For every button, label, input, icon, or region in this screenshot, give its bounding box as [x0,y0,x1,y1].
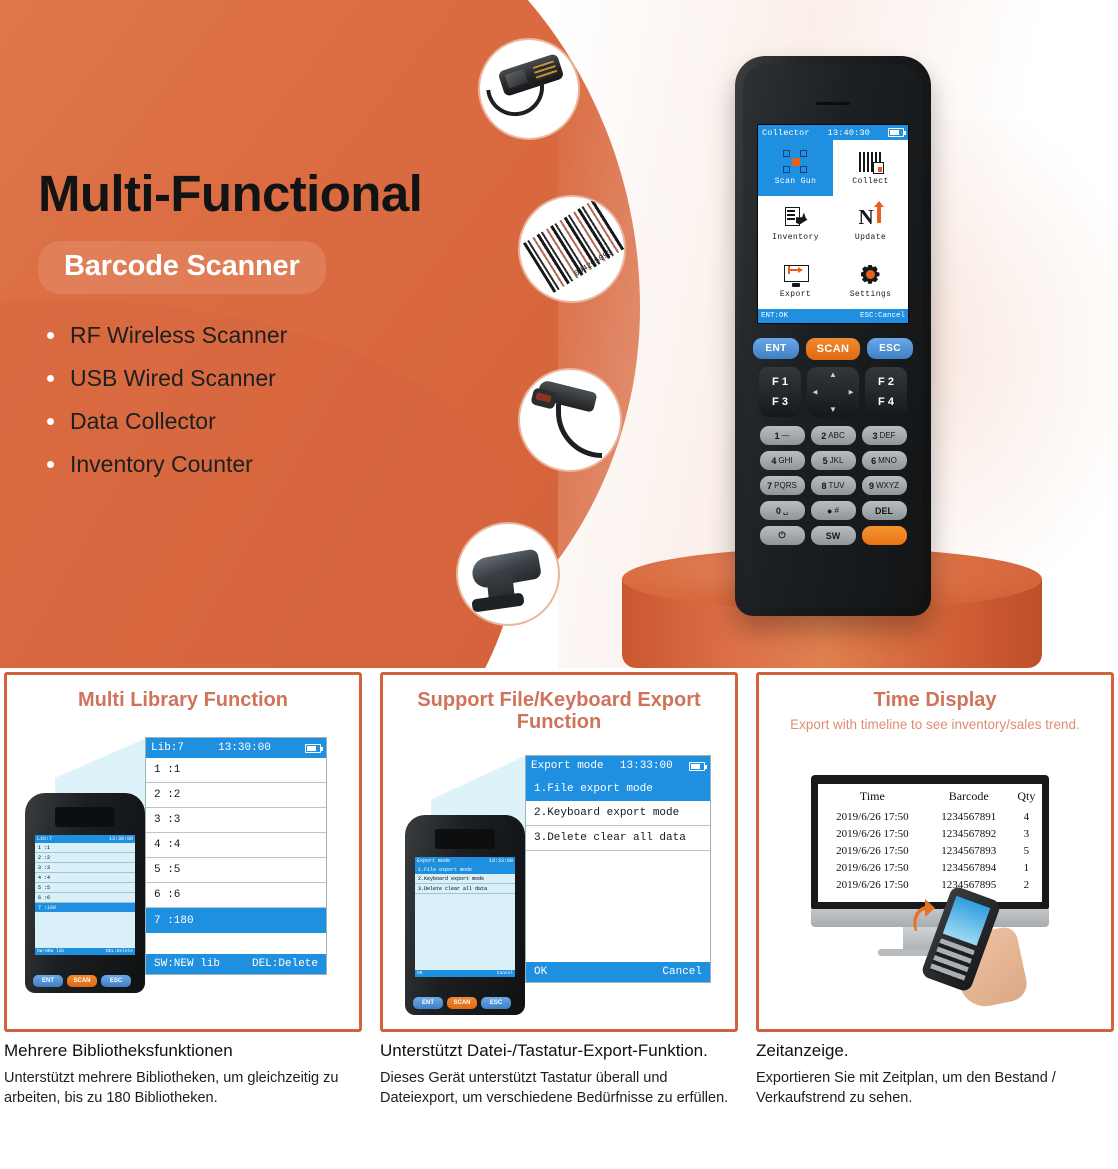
key-dot-hash[interactable]: ●# [811,501,856,520]
card-subtitle: Export with timeline to see inventory/sa… [759,717,1111,733]
enlarged-status-bar: Lib:7 13:30:00 [146,738,326,758]
menu-item-collect[interactable]: Collect [833,140,908,196]
barcode-icon [858,150,884,174]
table-row: 2019/6/26 17:50 1234567894 1 [818,859,1042,876]
mini-keypad: ENT SCAN ESC [33,975,131,987]
mini-status-bar: Export mode 13:33:00 [415,857,515,865]
mini-scan-key[interactable]: SCAN [67,975,97,987]
screen-title: Collector [762,128,810,138]
device-screen: Collector 13:40:30 Scan Gun Collect Inve… [757,124,909,324]
menu-item-update[interactable]: N Update [833,196,908,252]
page-title: Multi-Functional [38,168,558,219]
feature-list: RF Wireless Scanner USB Wired Scanner Da… [38,324,558,476]
mini-row: 4 :4 [35,873,135,883]
menu-label: Export [780,290,811,299]
cell-barcode: 1234567891 [927,808,1011,825]
orange-function-key[interactable] [862,526,907,545]
feature-item: USB Wired Scanner [38,367,558,390]
mini-esc-key[interactable]: ESC [101,975,131,987]
cell-barcode: 1234567894 [927,859,1011,876]
feature-item: RF Wireless Scanner [38,324,558,347]
mini-device-card1: Lib:7 13:30:00 1 :1 2 :2 3 :3 4 :4 5 :5 … [25,793,145,993]
enlarged-soft-keys: SW:NEW lib DEL:Delete [146,954,326,974]
mini-device-card2: Export mode 13:33:00 1.File export mode … [405,815,525,1015]
library-row[interactable]: 6 :6 [146,883,326,908]
caption-body: Exportieren Sie mit Zeitplan, um den Bes… [756,1068,1114,1108]
mini-esc-key[interactable]: ESC [481,997,511,1009]
screen-soft-key-bar: ENT:OK ESC:Cancel [758,309,908,323]
card-multi-library: Multi Library Function Lib:7 13:30:00 1 … [4,672,362,1032]
function-keys-left[interactable]: F 1 F 3 [759,367,801,417]
softkey-right: DEL:Delete [252,958,318,970]
screen-clock: 13:40:30 [828,128,870,138]
caption-body: Unterstützt mehrere Bibliotheken, um gle… [4,1068,362,1108]
qr-code-icon [783,150,809,174]
caption-export: Unterstützt Datei-/Tastatur-Export-Funkt… [380,1040,738,1169]
gear-icon [858,263,884,287]
hand-holding-device [935,891,1021,1011]
inset-corded-scanner [518,368,622,472]
scanner-screen [943,896,991,946]
cell-qty: 5 [1011,842,1042,859]
library-row[interactable]: 3 :3 [146,808,326,833]
library-row[interactable]: 1 :1 [146,758,326,783]
cell-barcode: 1234567893 [927,842,1011,859]
softkey-left: SW:NEW lib [154,958,220,970]
menu-label: Collect [852,177,888,186]
enlarged-soft-keys: OK Cancel [526,962,710,982]
mini-row-selected: 1.File export mode [415,865,515,874]
mini-soft-keys: OK Cancel [415,970,515,977]
f3-key[interactable]: F 3 [772,396,788,408]
keypad-row-1: 1— 2ABC 3DEF [749,426,917,445]
key-1[interactable]: 1— [760,426,805,445]
screen-status-bar: Collector 13:40:30 [758,125,908,140]
caption-heading: Unterstützt Datei-/Tastatur-Export-Funkt… [380,1040,738,1061]
key-del[interactable]: DEL [862,501,907,520]
key-6[interactable]: 6MNO [862,451,907,470]
caption-time-display: Zeitanzeige. Exportieren Sie mit Zeitpla… [756,1040,1114,1169]
card-export-function: Support File/Keyboard Export Function Ex… [380,672,738,1032]
device-notch [55,807,115,827]
monitor-screen: Time Barcode Qty 2019/6/26 17:50 1234567… [818,784,1042,902]
table-header-row: Time Barcode Qty [818,784,1042,808]
key-5[interactable]: 5JKL [811,451,856,470]
card2-enlarged-screen: Export mode 13:33:00 1.File export mode … [525,755,711,983]
caption-heading: Zeitanzeige. [756,1040,1114,1061]
dpad-down-icon[interactable]: ▼ [829,405,837,414]
feature-cards: Multi Library Function Lib:7 13:30:00 1 … [0,672,1118,1032]
cell-qty: 1 [1011,859,1042,876]
table-row: 2019/6/26 17:50 1234567892 3 [818,825,1042,842]
cell-qty: 4 [1011,808,1042,825]
power-key[interactable]: ⏻ [760,526,805,545]
scanner-keypad [929,938,974,982]
mini-row: 1 :1 [35,843,135,853]
function-keys-right[interactable]: F 2 F 4 [865,367,907,417]
inset-barcode-label: 094205093 [518,195,626,303]
mini-row: 3 :3 [35,863,135,873]
mini-scan-key[interactable]: SCAN [447,997,477,1009]
cell-barcode: 1234567892 [927,825,1011,842]
card1-enlarged-screen: Lib:7 13:30:00 1 :1 2 :2 3 :3 4 :4 5 :5 … [145,737,327,975]
menu-label: Update [855,233,886,242]
menu-item-inventory[interactable]: Inventory [758,196,833,252]
menu-label: Settings [850,290,892,299]
card-title: Multi Library Function [7,675,359,711]
main-device: Collector 13:40:30 Scan Gun Collect Inve… [735,56,931,616]
export-option[interactable]: 2.Keyboard export mode [526,801,710,826]
cell-qty: 3 [1011,825,1042,842]
keypad-row-5: ⏻ SW [749,526,917,545]
screen-menu-grid: Scan Gun Collect Inventory N Update Expo… [758,140,908,309]
key-2[interactable]: 2ABC [811,426,856,445]
hero-section: Multi-Functional Barcode Scanner RF Wire… [0,0,1118,668]
card-title: Time Display [759,675,1111,711]
softkey-right: ESC:Cancel [860,312,905,320]
inset-handheld-pda [478,38,580,140]
column-header-time: Time [818,784,927,808]
monitor-bezel: Time Barcode Qty 2019/6/26 17:50 1234567… [811,775,1049,909]
softkey-left: ENT:OK [761,312,788,320]
hero-subtitle-pill: Barcode Scanner [38,241,326,294]
direction-pad[interactable]: ▲ ▼ ◄ ► [807,367,859,417]
menu-label: Inventory [772,233,819,242]
caption-multi-library: Mehrere Bibliotheksfunktionen Unterstütz… [4,1040,362,1169]
menu-label: Scan Gun [775,177,817,186]
keypad-row-3: 7PQRS 8TUV 9WXYZ [749,476,917,495]
monitor-usb-icon [783,263,809,287]
cell-time: 2019/6/26 17:50 [818,825,927,842]
cell-time: 2019/6/26 17:50 [818,808,927,825]
export-option[interactable]: 3.Delete clear all data [526,826,710,851]
esc-key[interactable]: ESC [867,338,913,359]
battery-icon [689,762,705,771]
f1-key[interactable]: F 1 [772,376,788,388]
library-row-selected[interactable]: 7 :180 [146,908,326,933]
key-3[interactable]: 3DEF [862,426,907,445]
sw-key[interactable]: SW [811,526,856,545]
card-title: Support File/Keyboard Export Function [383,675,735,734]
menu-item-scan-gun[interactable]: Scan Gun [758,140,833,196]
card-time-display: Time Display Export with timeline to see… [756,672,1114,1032]
key-0[interactable]: 0␣ [760,501,805,520]
speaker-grille [816,102,850,105]
hero-text-block: Multi-Functional Barcode Scanner RF Wire… [38,168,558,496]
column-header-qty: Qty [1011,784,1042,808]
barcode-icon [523,199,625,293]
softkey-ok[interactable]: OK [534,966,547,978]
clipboard-hand-icon [783,206,809,230]
upload-arrow-icon [909,897,935,931]
keypad-row-top: ENT SCAN ESC [749,338,917,360]
wrist-strap-icon [486,82,548,120]
mini-status-bar: Lib:7 13:30:00 [35,835,135,843]
key-4[interactable]: 4GHI [760,451,805,470]
scanner-cable-icon [556,404,602,458]
key-8[interactable]: 8TUV [811,476,856,495]
lib-clock: 13:30:00 [218,742,271,754]
feature-item: Inventory Counter [38,453,558,476]
softkey-cancel[interactable]: Cancel [662,966,702,978]
mini-device-screen: Export mode 13:33:00 1.File export mode … [415,857,515,977]
device-keypad: ENT SCAN ESC F 1 F 3 ▲ ▼ ◄ ► F 2 F 4 [749,338,917,551]
mini-row: 3.Delete clear all data [415,884,515,894]
mini-keypad: ENT SCAN ESC [413,997,511,1009]
keypad-function-row: F 1 F 3 ▲ ▼ ◄ ► F 2 F 4 [749,367,917,417]
mini-row: 2 :2 [35,853,135,863]
caption-body: Dieses Gerät unterstützt Tastatur überal… [380,1068,738,1108]
ent-key[interactable]: ENT [753,338,799,359]
key-7[interactable]: 7PQRS [760,476,805,495]
column-header-barcode: Barcode [927,784,1011,808]
feature-item: Data Collector [38,410,558,433]
keypad-row-2: 4GHI 5JKL 6MNO [749,451,917,470]
mini-row-selected: 7 :180 [35,903,135,912]
scan-key[interactable]: SCAN [806,338,860,360]
cell-time: 2019/6/26 17:50 [818,842,927,859]
update-arrow-icon: N [858,206,884,230]
library-row[interactable]: 5 :5 [146,858,326,883]
mini-ent-key[interactable]: ENT [413,997,443,1009]
mini-device-screen: Lib:7 13:30:00 1 :1 2 :2 3 :3 4 :4 5 :5 … [35,835,135,955]
mini-row: 6 :6 [35,893,135,903]
dpad-right-icon[interactable]: ► [847,388,855,397]
library-row[interactable]: 2 :2 [146,783,326,808]
cell-time: 2019/6/26 17:50 [818,859,927,876]
caption-heading: Mehrere Bibliotheksfunktionen [4,1040,362,1061]
export-title: Export mode [531,760,604,772]
inset-wireless-scanner [456,522,560,626]
export-data-table: Time Barcode Qty 2019/6/26 17:50 1234567… [818,784,1042,893]
mini-row: 2.Keyboard export mode [415,874,515,884]
table-row: 2019/6/26 17:50 1234567891 4 [818,808,1042,825]
key-9[interactable]: 9WXYZ [862,476,907,495]
lib-title: Lib:7 [151,742,184,754]
battery-icon [888,128,904,137]
scanner-base-icon [471,592,524,612]
caption-row: Mehrere Bibliotheksfunktionen Unterstütz… [0,1040,1118,1169]
dpad-up-icon[interactable]: ▲ [829,370,837,379]
device-notch [435,829,495,849]
export-option-selected[interactable]: 1.File export mode [526,776,710,801]
mini-row: 5 :5 [35,883,135,893]
dpad-left-icon[interactable]: ◄ [811,388,819,397]
enlarged-status-bar: Export mode 13:33:00 [526,756,710,776]
menu-item-export[interactable]: Export [758,253,833,309]
table-row: 2019/6/26 17:50 1234567893 5 [818,842,1042,859]
f4-key[interactable]: F 4 [878,396,894,408]
menu-item-settings[interactable]: Settings [833,253,908,309]
mini-soft-keys: SW:NEW lib DEL:Delete [35,948,135,955]
battery-icon [305,744,321,753]
f2-key[interactable]: F 2 [878,376,894,388]
library-row[interactable]: 4 :4 [146,833,326,858]
keypad-row-4: 0␣ ●# DEL [749,501,917,520]
cell-time: 2019/6/26 17:50 [818,876,927,893]
mini-ent-key[interactable]: ENT [33,975,63,987]
export-clock: 13:33:00 [620,760,673,772]
